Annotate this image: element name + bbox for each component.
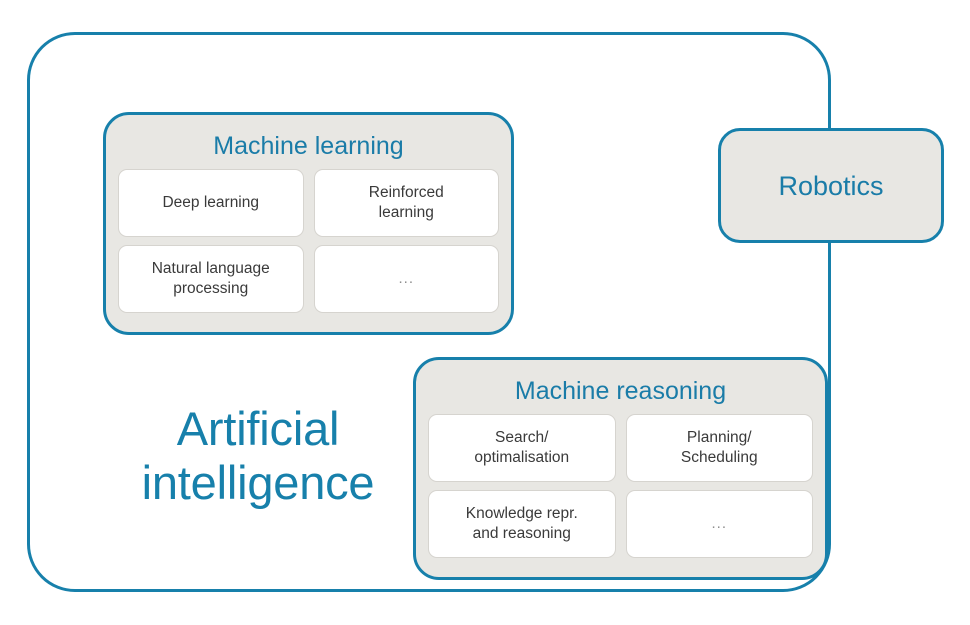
group-machine-learning[interactable]: Machine learning Deep learning Reinforce… xyxy=(103,112,514,335)
artificial-intelligence-container: Artificial intelligence Machine learning… xyxy=(27,32,831,592)
group-machine-reasoning-title: Machine reasoning xyxy=(416,360,825,414)
card-knowledge-representation-and-reasoning[interactable]: Knowledge repr. and reasoning xyxy=(428,490,616,558)
card-machine-learning-more[interactable]: ... xyxy=(314,245,500,313)
robotics-label: Robotics xyxy=(778,170,883,202)
group-machine-reasoning[interactable]: Machine reasoning Search/ optimalisation… xyxy=(413,357,828,580)
group-machine-learning-title: Machine learning xyxy=(106,115,511,169)
group-machine-reasoning-items: Search/ optimalisation Planning/ Schedul… xyxy=(416,414,825,571)
artificial-intelligence-label: Artificial intelligence xyxy=(108,402,408,510)
group-machine-learning-items: Deep learning Reinforced learning Natura… xyxy=(106,169,511,326)
card-machine-reasoning-more[interactable]: ... xyxy=(626,490,814,558)
card-deep-learning[interactable]: Deep learning xyxy=(118,169,304,237)
card-planning-scheduling[interactable]: Planning/ Scheduling xyxy=(626,414,814,482)
card-search-optimalisation[interactable]: Search/ optimalisation xyxy=(428,414,616,482)
robotics-box[interactable]: Robotics xyxy=(718,128,944,243)
card-reinforced-learning[interactable]: Reinforced learning xyxy=(314,169,500,237)
diagram-canvas: Artificial intelligence Machine learning… xyxy=(0,0,970,625)
card-natural-language-processing[interactable]: Natural language processing xyxy=(118,245,304,313)
